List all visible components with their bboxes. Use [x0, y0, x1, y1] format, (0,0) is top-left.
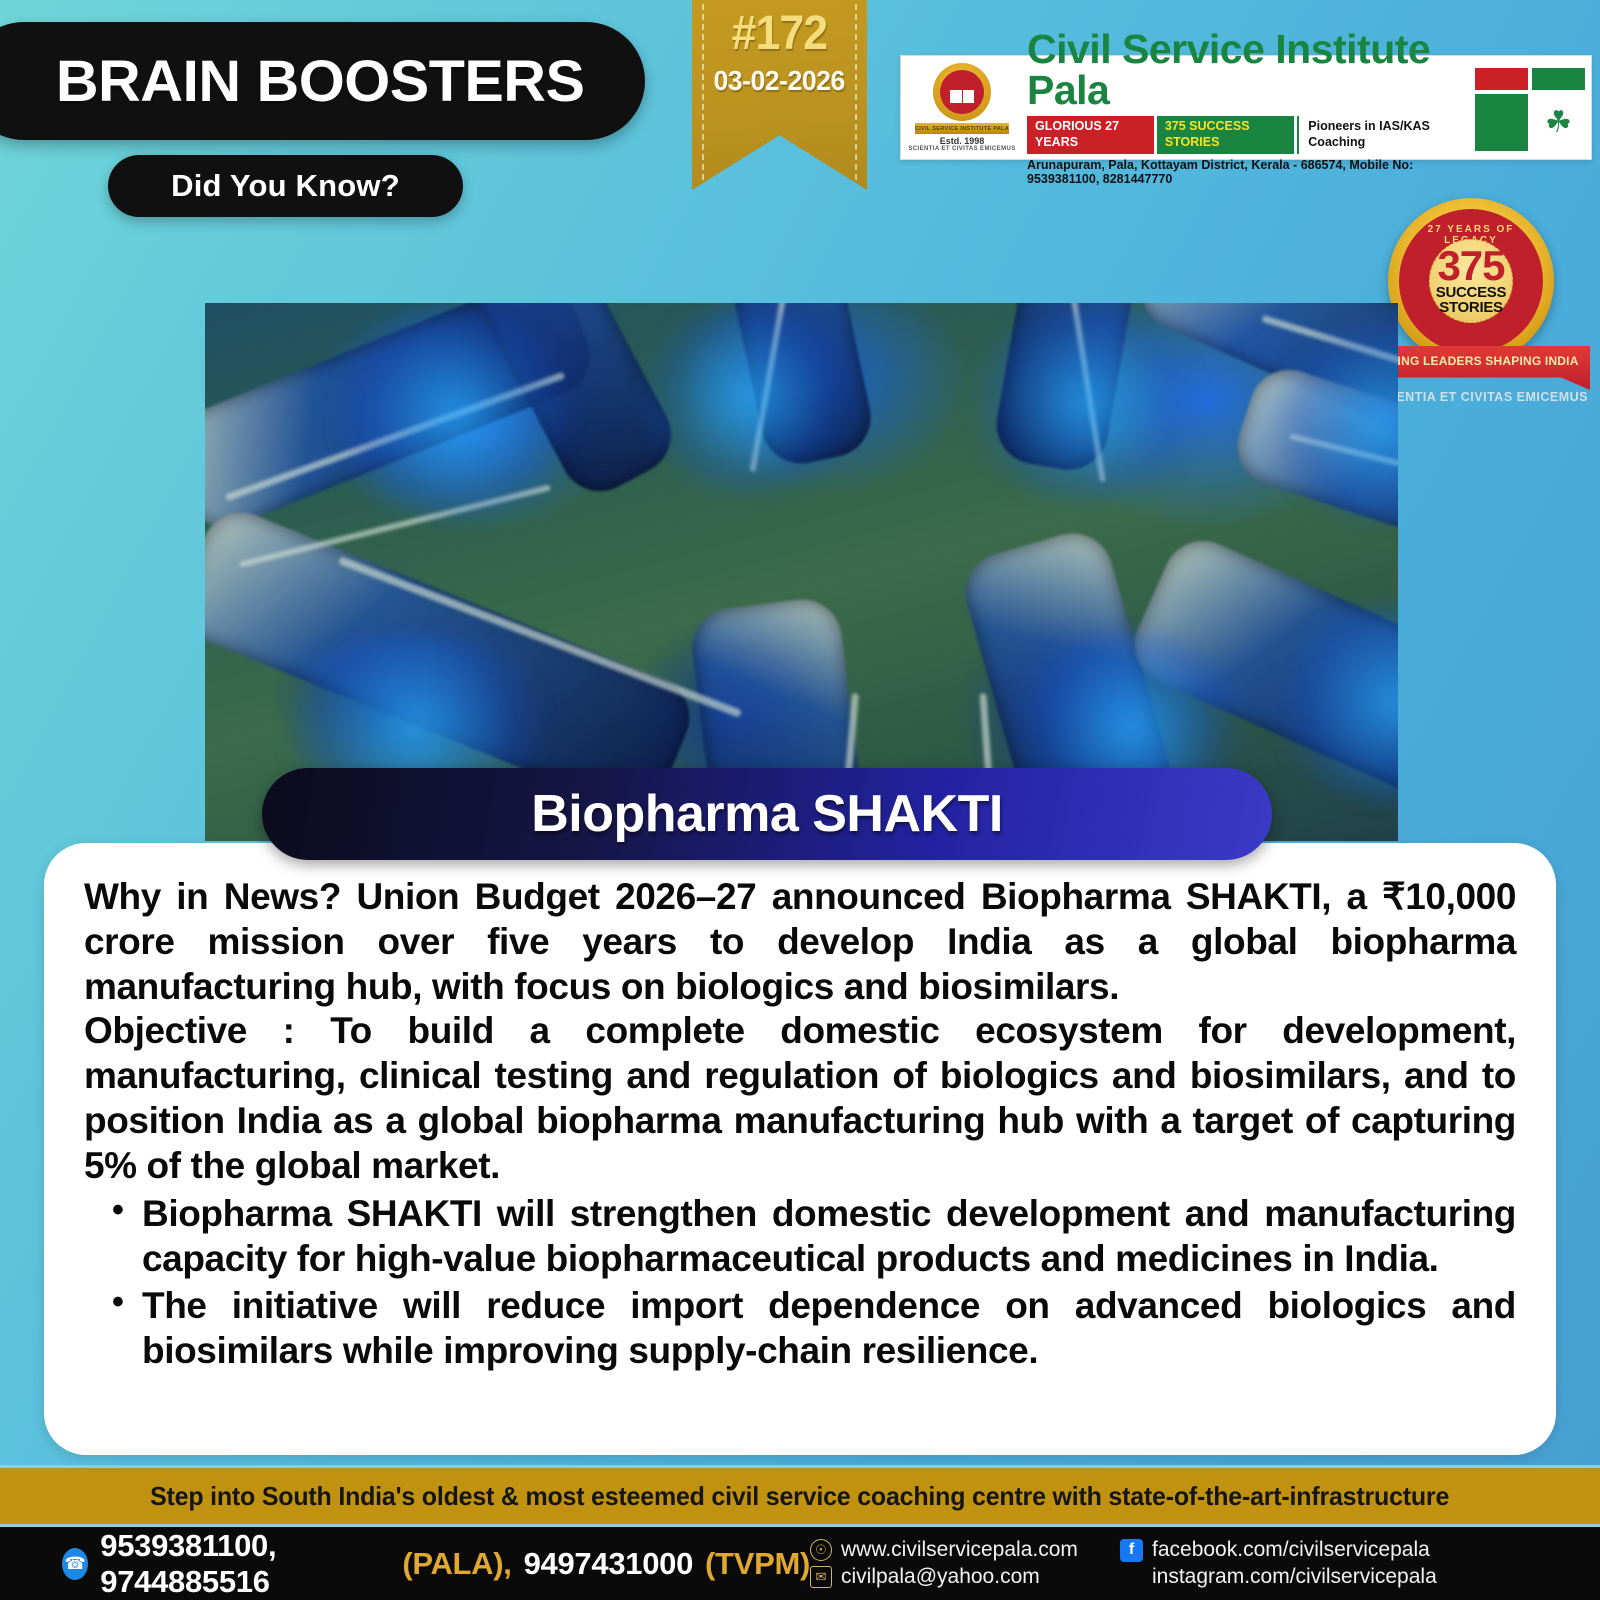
facebook-row[interactable]: f facebook.com/civilservicepala	[1120, 1538, 1437, 1562]
tag-pioneers: Pioneers in IAS/KAS Coaching	[1297, 116, 1471, 153]
institute-emblem: CIVIL SERVICE INSTITUTE PALA Estd. 1998 …	[901, 56, 1023, 159]
phone-group: ☎ 9539381100, 9744885516 (PALA), 9497431…	[0, 1528, 810, 1600]
poster-root: BRAIN BOOSTERS Did You Know? #172 03-02-…	[0, 0, 1600, 1600]
facebook-url[interactable]: facebook.com/civilservicepala	[1152, 1538, 1430, 1562]
facebook-icon: f	[1120, 1539, 1143, 1562]
emblem-seal-icon	[933, 63, 991, 121]
topic-title: Biopharma SHAKTI	[531, 784, 1003, 844]
brain-boosters-title-pill: BRAIN BOOSTERS	[0, 22, 645, 140]
hand-leaf-icon: ☘	[1532, 94, 1585, 151]
phone-numbers[interactable]: 9539381100, 9744885516	[100, 1528, 390, 1600]
emblem-estd: Estd. 1998	[940, 136, 985, 146]
institute-text-block: Civil Service Institute Pala GLORIOUS 27…	[1023, 56, 1473, 159]
email-row[interactable]: ✉ civilpala@yahoo.com	[810, 1565, 1120, 1589]
web-group: ☉ www.civilservicepala.com ✉ civilpala@y…	[810, 1538, 1120, 1589]
phone-number-tvpm[interactable]: 9497431000	[524, 1546, 693, 1582]
tagline-bar: Step into South India's oldest & most es…	[0, 1465, 1600, 1527]
institute-address: Arunapuram, Pala, Kottayam District, Ker…	[1027, 158, 1471, 186]
contact-bar: ☎ 9539381100, 9744885516 (PALA), 9497431…	[0, 1527, 1600, 1600]
logo-color-squares: ☘	[1473, 56, 1591, 159]
tag-glorious-years: GLORIOUS 27 YEARS	[1027, 116, 1154, 153]
square-green-icon	[1532, 68, 1585, 90]
issue-date: 03-02-2026	[714, 65, 845, 97]
paragraph-why-in-news: Why in News? Union Budget 2026–27 announ…	[84, 875, 1516, 1009]
bullet-list: Biopharma SHAKTI will strengthen domesti…	[84, 1192, 1516, 1373]
phone-location-pala: (PALA),	[402, 1546, 511, 1582]
issue-ribbon: #172 03-02-2026	[692, 0, 867, 190]
institute-logo-banner: CIVIL SERVICE INSTITUTE PALA Estd. 1998 …	[900, 55, 1592, 160]
institute-name: Civil Service Institute Pala	[1027, 29, 1471, 111]
list-item: The initiative will reduce import depend…	[84, 1284, 1516, 1374]
instagram-url[interactable]: instagram.com/civilservicepala	[1152, 1565, 1437, 1589]
topic-photo	[205, 303, 1398, 841]
social-group: f facebook.com/civilservicepala instagra…	[1120, 1538, 1437, 1589]
footer-tagline: Step into South India's oldest & most es…	[150, 1481, 1449, 1512]
square-red-icon	[1475, 68, 1528, 90]
badge-seal-icon: 27 YEARS OF LEGACY 375 SUCCESS STORIES	[1388, 198, 1554, 364]
issue-number: #172	[732, 10, 828, 58]
paragraph-objective: Objective : To build a complete domestic…	[84, 1009, 1516, 1188]
badge-label-line2: STORIES	[1439, 300, 1502, 315]
badge-number: 375	[1437, 247, 1504, 285]
phone-location-tvpm: (TVPM)	[705, 1546, 810, 1582]
institute-tag-row: GLORIOUS 27 YEARS 375 SUCCESS STORIES Pi…	[1027, 116, 1471, 153]
list-item: Biopharma SHAKTI will strengthen domesti…	[84, 1192, 1516, 1282]
emblem-ribbon-label: CIVIL SERVICE INSTITUTE PALA	[915, 123, 1009, 134]
badge-label-line1: SUCCESS	[1436, 285, 1506, 300]
square-green-2-icon	[1475, 94, 1528, 151]
page-title: BRAIN BOOSTERS	[56, 48, 585, 115]
instagram-row[interactable]: instagram.com/civilservicepala	[1120, 1565, 1437, 1589]
website-url[interactable]: www.civilservicepala.com	[841, 1538, 1078, 1562]
did-you-know-pill: Did You Know?	[108, 155, 463, 217]
website-row[interactable]: ☉ www.civilservicepala.com	[810, 1538, 1120, 1562]
globe-icon: ☉	[810, 1539, 832, 1561]
phone-icon: ☎	[62, 1548, 88, 1580]
content-card: Why in News? Union Budget 2026–27 announ…	[44, 843, 1556, 1455]
envelope-icon: ✉	[810, 1566, 832, 1588]
page-subtitle: Did You Know?	[171, 168, 400, 204]
emblem-motto: SCIENTIA ET CIVITAS EMICEMUS	[908, 146, 1015, 152]
email-address[interactable]: civilpala@yahoo.com	[841, 1565, 1040, 1589]
tag-success-stories: 375 SUCCESS STORIES	[1157, 116, 1294, 153]
topic-title-bar: Biopharma SHAKTI	[262, 768, 1272, 860]
